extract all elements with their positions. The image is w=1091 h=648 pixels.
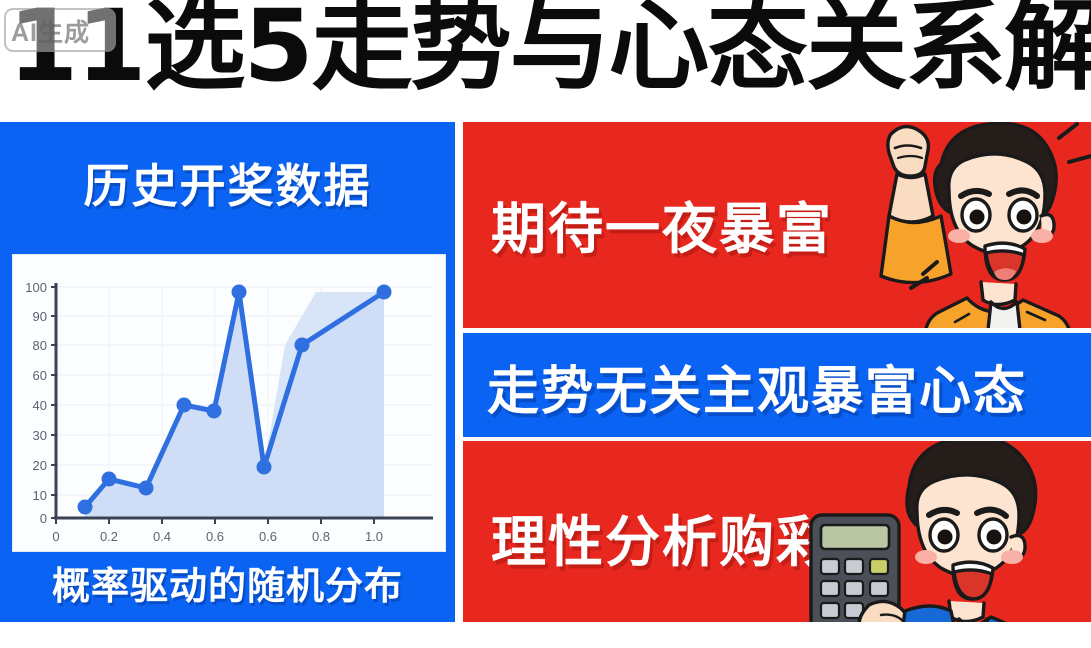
data-point bbox=[102, 472, 117, 487]
data-point bbox=[78, 500, 93, 515]
panel-r3-label: 理性分析购彩 bbox=[491, 497, 833, 577]
left-panel-caption: 概率驱动的随机分布 bbox=[0, 555, 455, 610]
x-tick-label: 0.6 bbox=[206, 529, 224, 544]
y-tick-label: 60 bbox=[33, 368, 47, 383]
data-point bbox=[207, 404, 222, 419]
y-tick-label: 30 bbox=[33, 428, 47, 443]
y-tick-label: 40 bbox=[33, 398, 47, 413]
x-tick-label: 0.6 bbox=[259, 529, 277, 544]
y-tick-label: 90 bbox=[33, 309, 47, 324]
y-tick-label: 10 bbox=[33, 488, 47, 503]
eye-icon bbox=[938, 530, 953, 545]
title-bar: 11选5走势与心态关系解析 AI生成 bbox=[0, 0, 1091, 118]
y-tick-label: 0 bbox=[40, 511, 47, 526]
panel-r1-label: 期待一夜暴富 bbox=[491, 184, 833, 264]
y-tick-label: 100 bbox=[25, 280, 47, 295]
panel-r2-label: 走势无关主观暴富心态 bbox=[487, 349, 1027, 424]
eye-icon bbox=[987, 530, 1002, 545]
historical-data-panel: 历史开奖数据 bbox=[0, 122, 455, 622]
poster-root: 11选5走势与心态关系解析 AI生成 历史开奖数据 bbox=[0, 0, 1091, 648]
data-point bbox=[295, 338, 310, 353]
watermark-label: AI生成 bbox=[11, 13, 90, 49]
x-tick-label: 0 bbox=[52, 529, 59, 544]
data-point bbox=[177, 398, 192, 413]
x-tick-label: 0.4 bbox=[153, 529, 171, 544]
boy-with-calculator-illustration bbox=[797, 441, 1091, 622]
page-title: 11选5走势与心态关系解析 bbox=[8, 0, 1091, 106]
x-tick-label: 0.2 bbox=[100, 529, 118, 544]
line-chart: 100 90 80 60 40 30 20 10 0 0 0.2 0.4 0.6… bbox=[12, 254, 446, 552]
y-tick-label: 20 bbox=[33, 458, 47, 473]
panel-trend-unrelated-statement: 走势无关主观暴富心态 bbox=[463, 333, 1091, 437]
eye-icon bbox=[1017, 210, 1032, 225]
x-tick-label: 0.8 bbox=[312, 529, 330, 544]
data-point bbox=[257, 460, 272, 475]
angry-boy-illustration bbox=[795, 122, 1091, 328]
ai-generated-watermark: AI生成 bbox=[4, 8, 116, 52]
line-chart-svg: 100 90 80 60 40 30 20 10 0 0 0.2 0.4 0.6… bbox=[13, 255, 445, 551]
data-point bbox=[232, 285, 247, 300]
y-tick-label: 80 bbox=[33, 338, 47, 353]
panel-rational-analysis: 理性分析购彩 bbox=[463, 441, 1091, 622]
left-panel-title: 历史开奖数据 bbox=[0, 150, 455, 216]
calculator-display bbox=[821, 525, 889, 549]
data-point bbox=[139, 481, 154, 496]
panel-expect-overnight-wealth: 期待一夜暴富 bbox=[463, 122, 1091, 328]
x-tick-label: 1.0 bbox=[365, 529, 383, 544]
eye-icon bbox=[970, 210, 985, 225]
fist-icon bbox=[888, 126, 928, 176]
data-point bbox=[377, 285, 392, 300]
